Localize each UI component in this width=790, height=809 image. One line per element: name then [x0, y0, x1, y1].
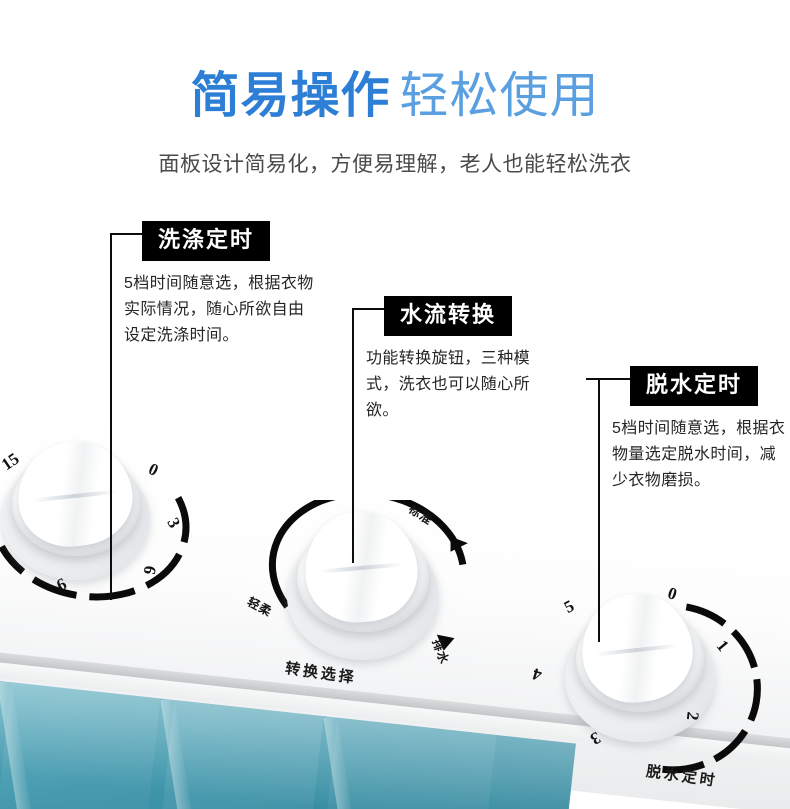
page-subtitle: 面板设计简易化，方便易理解，老人也能轻松洗衣 [0, 148, 790, 178]
callout-1-description: 5档时间随意选，根据衣物实际情况，随心所欲自由设定洗涤时间。 [124, 271, 320, 349]
mode-selector-knob[interactable]: 标准 排水 轻柔 转换选择 [245, 500, 495, 705]
infographic-stage: 简易操作轻松使用 面板设计简易化，方便易理解，老人也能轻松洗衣 [0, 0, 790, 809]
callout-1-leader-horizontal [110, 233, 144, 235]
spin-timer-knob[interactable]: 0 1 2 3 4 5 脱水定时 [520, 580, 770, 805]
wash-timer-knob[interactable]: 0 3 6 9 12 15 [0, 428, 210, 628]
callout-2-leader-vertical [352, 308, 354, 563]
title-bold-part: 简易操作 [190, 69, 390, 123]
callout-2-description: 功能转换旋钮，三种模式，洗衣也可以随心所欲。 [366, 346, 562, 424]
callout-3-description: 5档时间随意选，根据衣物量选定脱水时间，减少衣物磨损。 [612, 416, 788, 494]
callout-1-tag: 洗涤定时 [142, 221, 270, 261]
callout-2-tag: 水流转换 [384, 296, 512, 336]
callout-1-leader-vertical [110, 233, 112, 600]
callout-3-leader-vertical [598, 378, 600, 642]
callout-3-leader-horizontal [586, 378, 632, 380]
title-light-part: 轻松使用 [400, 69, 600, 123]
callout-2-leader-horizontal [352, 308, 386, 310]
page-title: 简易操作轻松使用 [0, 72, 790, 121]
callout-3-tag: 脱水定时 [630, 366, 758, 406]
